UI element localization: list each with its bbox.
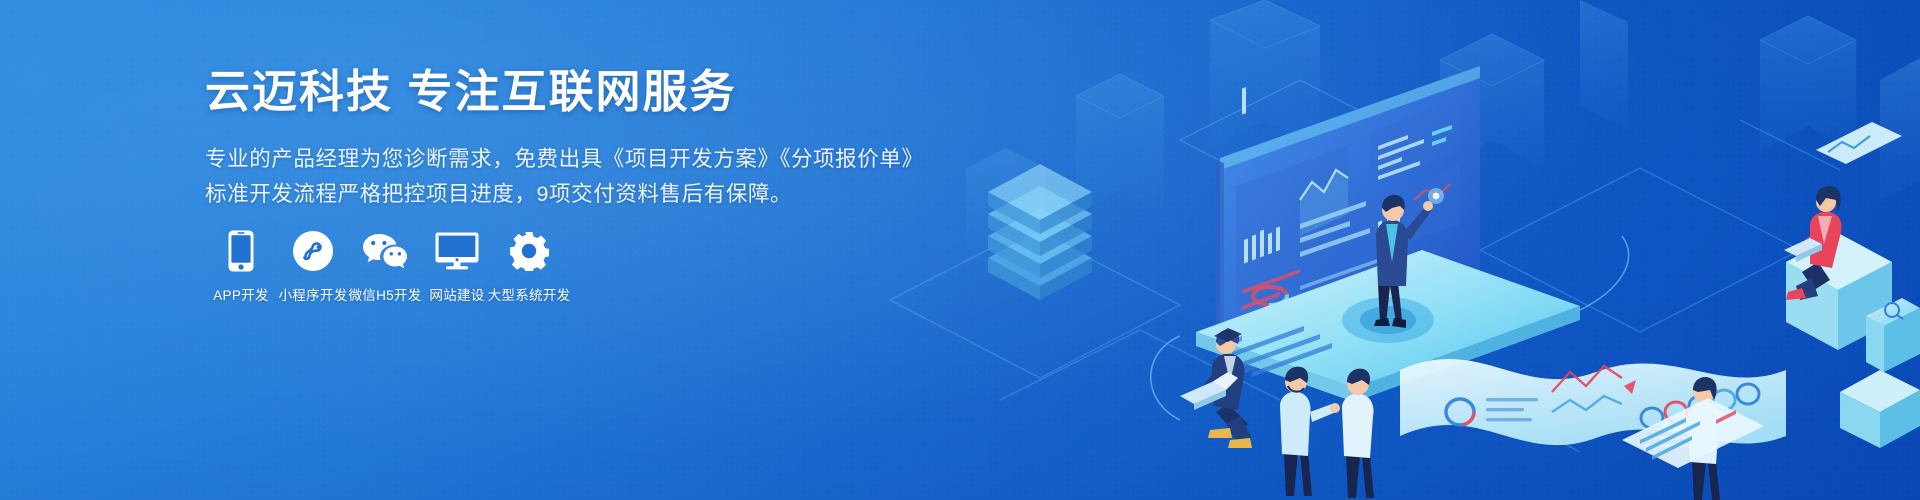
mini-program-icon [293,228,333,274]
service-label: APP开发 [213,288,269,304]
page-title: 云迈科技 专注互联网服务 [205,64,905,120]
service-item-website[interactable]: 网站建设 [421,228,493,304]
service-item-app[interactable]: APP开发 [205,228,277,304]
server-stack [988,164,1092,300]
monitor-icon [435,228,479,274]
service-label: 小程序开发 [279,288,348,304]
subtitle-line-2: 标准开发流程严格把控项目进度，9项交付资料售后有保障。 [205,177,905,212]
service-label: 网站建设 [429,288,484,304]
gear-icon [509,228,549,274]
service-item-system[interactable]: 大型系统开发 [493,228,565,304]
service-icon-row: APP开发 小程序开发 [205,228,565,304]
wechat-icon [362,228,408,274]
service-item-miniprogram[interactable]: 小程序开发 [277,228,349,304]
hero-illustration [880,0,1920,500]
promo-banner: 云迈科技 专注互联网服务 专业的产品经理为您诊断需求，免费出具《项目开发方案》《… [0,0,1920,500]
subtitle-line-1: 专业的产品经理为您诊断需求，免费出具《项目开发方案》《分项报价单》 [205,142,905,177]
service-item-wechat[interactable]: 微信H5开发 [349,228,421,304]
illustration-svg [880,0,1920,500]
banner-copy: 云迈科技 专注互联网服务 专业的产品经理为您诊断需求，免费出具《项目开发方案》《… [205,64,905,212]
service-label: 大型系统开发 [488,288,571,304]
service-label: 微信H5开发 [348,288,421,304]
mobile-phone-icon [228,228,254,274]
